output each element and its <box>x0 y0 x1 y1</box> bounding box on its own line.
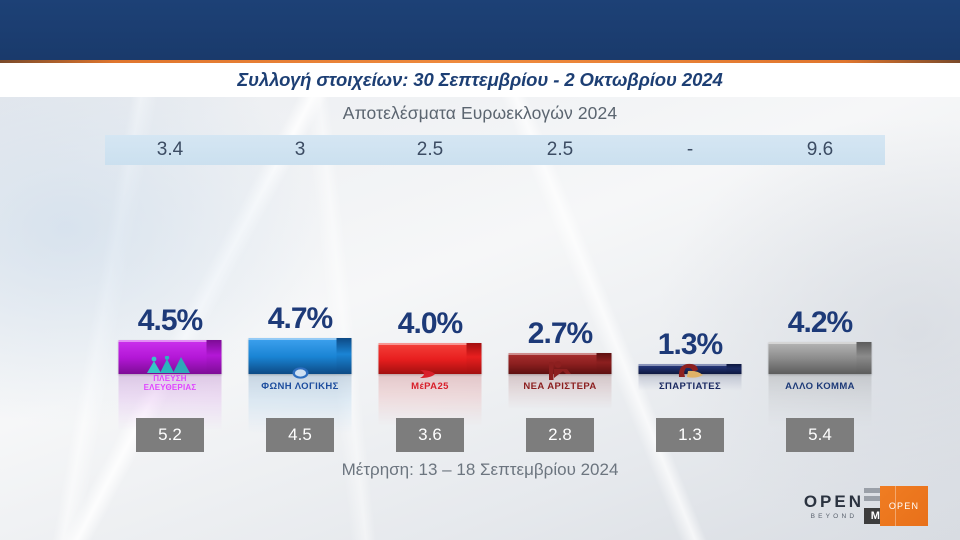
party-name: ΝΕΑ ΑΡΙΣΤΕΡΑ <box>523 382 596 392</box>
previous-value-chip: 5.4 <box>786 418 854 452</box>
party-name: ΑΛΛΟ ΚΟΜΜΑ <box>785 382 855 392</box>
euro-value-cell: 3 <box>235 135 365 165</box>
euro-results-label: Αποτελέσματα Ευρωεκλογών 2024 <box>0 103 960 124</box>
euro-value-cell: 2.5 <box>365 135 495 165</box>
mountains-icon <box>143 356 197 373</box>
mountains-icon <box>143 353 197 373</box>
previous-value-cell: 5.4 <box>755 418 885 452</box>
subtitle-band: Συλλογή στοιχείων: 30 Σεπτεμβρίου - 2 Οκ… <box>0 63 960 97</box>
party-column: 4.0%ΜέΡΑ25 <box>365 178 495 450</box>
previous-value-chip: 4.5 <box>266 418 334 452</box>
previous-value-cell: 1.3 <box>625 418 755 452</box>
party-column: 4.7%ΦΩΝΗ ΛΟΓΙΚΗΣ <box>235 178 365 450</box>
collection-period-subtitle: Συλλογή στοιχείων: 30 Σεπτεμβρίου - 2 Οκ… <box>237 69 722 91</box>
party-name: ΠΛΕΥΣΗΕΛΕΥΘΕΡΙΑΣ <box>144 375 197 392</box>
party-column: 2.7%ΝΕΑ ΑΡΙΣΤΕΡΑ <box>495 178 625 450</box>
previous-measurement-row: 5.24.53.62.81.35.4 <box>105 418 885 452</box>
previous-value-cell: 3.6 <box>365 418 495 452</box>
previous-value-chip: 3.6 <box>396 418 464 452</box>
party-logo: ΝΕΑ ΑΡΙΣΤΕΡΑ <box>495 350 625 392</box>
party-logo: ΣΠΑΡΤΙΑΤΕΣ <box>625 350 755 392</box>
euro-value-cell: 9.6 <box>755 135 885 165</box>
euro-value-cell: 2.5 <box>495 135 625 165</box>
helmet-icon <box>675 361 705 380</box>
open-watermark: OPEN <box>880 486 928 526</box>
party-logo: ΑΛΛΟ ΚΟΜΜΑ <box>755 350 885 392</box>
party-name: ΜέΡΑ25 <box>411 382 449 392</box>
party-name: ΣΠΑΡΤΙΑΤΕΣ <box>659 382 721 392</box>
beyond-logo-text: BEYOND <box>811 513 858 520</box>
helmet-icon <box>675 360 705 380</box>
previous-value-chip: 2.8 <box>526 418 594 452</box>
previous-value-chip: 5.2 <box>136 418 204 452</box>
party-percentage: 4.2% <box>755 306 885 340</box>
previous-value-chip: 1.3 <box>656 418 724 452</box>
party-logo: ΜέΡΑ25 <box>365 350 495 392</box>
party-column: 1.3%ΣΠΑΡΤΙΑΤΕΣ <box>625 178 755 450</box>
party-column: 4.5%ΠΛΕΥΣΗΕΛΕΥΘΕΡΙΑΣ <box>105 178 235 450</box>
mrb-logo: MRB OPEN <box>864 484 926 526</box>
euro-value-cell: - <box>625 135 755 165</box>
party-column: 4.2%ΑΛΛΟ ΚΟΜΜΑ <box>755 178 885 450</box>
party-percentage: 2.7% <box>495 317 625 351</box>
figure-icon <box>547 360 573 380</box>
party-percentage: 4.7% <box>235 302 365 336</box>
party-logo: ΦΩΝΗ ΛΟΓΙΚΗΣ <box>235 350 365 392</box>
brain-icon <box>292 360 309 380</box>
open-logo-text: OPEN <box>804 492 864 512</box>
open-beyond-logo: OPEN BEYOND <box>804 492 864 520</box>
party-percentage: 4.5% <box>105 304 235 338</box>
euro-value-cell: 3.4 <box>105 135 235 165</box>
party-logo: ΠΛΕΥΣΗΕΛΕΥΘΕΡΙΑΣ <box>105 350 235 392</box>
measurement-footnote: Μέτρηση: 13 – 18 Σεπτεμβρίου 2024 <box>0 460 960 480</box>
header-band <box>0 0 960 60</box>
euro-results-row: 3.4 3 2.5 2.5 - 9.6 <box>105 135 885 165</box>
party-percentage: 4.0% <box>365 307 495 341</box>
previous-value-cell: 2.8 <box>495 418 625 452</box>
previous-value-cell: 4.5 <box>235 418 365 452</box>
party-name: ΦΩΝΗ ΛΟΓΙΚΗΣ <box>261 382 338 392</box>
previous-value-cell: 5.2 <box>105 418 235 452</box>
arrow-icon <box>420 360 440 380</box>
bar-chart: 4.5%ΠΛΕΥΣΗΕΛΕΥΘΕΡΙΑΣ4.7%ΦΩΝΗ ΛΟΓΙΚΗΣ4.0%… <box>105 178 885 450</box>
figure-icon <box>547 360 573 380</box>
brain-icon <box>292 366 309 380</box>
arrow-icon <box>420 368 440 380</box>
